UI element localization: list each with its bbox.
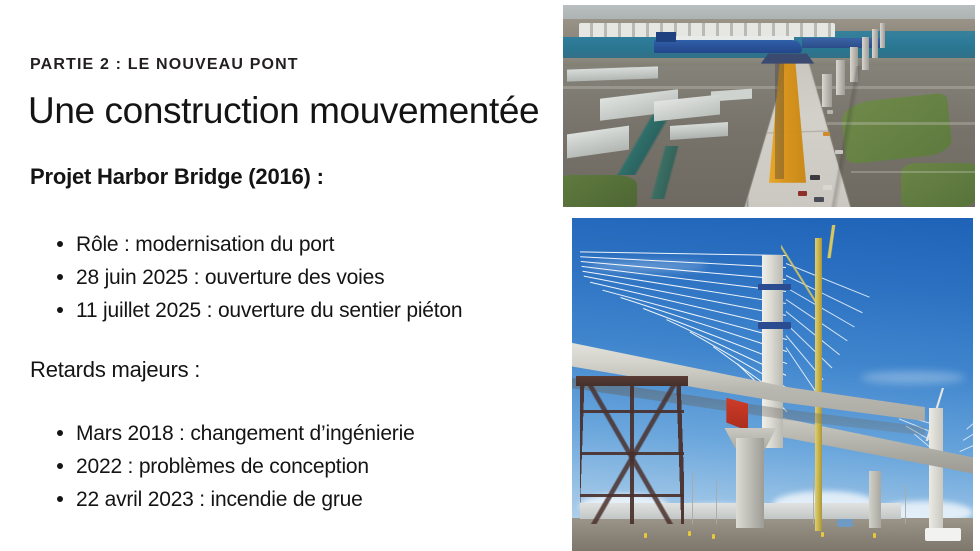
photo-vehicle (814, 197, 824, 202)
list-item-label: Rôle : modernisation du port (76, 233, 334, 256)
photo-crane-jib (788, 223, 877, 259)
cable-stayed-bridge-photo (572, 218, 973, 551)
photo-pylon-far (929, 408, 943, 528)
photo-ship-superstructure (656, 32, 677, 42)
photo-traffic-cone (712, 534, 715, 539)
bullet-dot-icon (57, 430, 63, 436)
bullet-dot-icon (57, 274, 63, 280)
photo-traffic-cone (644, 533, 647, 538)
page-title: Une construction mouvementée (28, 90, 539, 132)
list-item-label: 22 avril 2023 : incendie de grue (76, 488, 363, 511)
slide-kicker: PARTIE 2 : LE NOUVEAU PONT (30, 56, 299, 74)
list-item-label: 11 juillet 2025 : ouverture du sentier p… (76, 299, 462, 322)
photo-road (563, 86, 975, 89)
photo-pier-far (869, 471, 881, 528)
photo-traffic-cone (821, 532, 824, 537)
photo-gantry-rail (775, 62, 784, 179)
list-item: 28 juin 2025 : ouverture des voies (56, 261, 462, 294)
list-item-label: Mars 2018 : changement d’ingénierie (76, 422, 415, 445)
presentation-slide: PARTIE 2 : LE NOUVEAU PONT Une construct… (0, 0, 980, 551)
photo-white-truck (925, 528, 961, 541)
photo-vehicle (823, 185, 833, 190)
list-item: 22 avril 2023 : incendie de grue (56, 483, 415, 516)
bullet-dot-icon (57, 496, 63, 502)
photo-vehicle (823, 132, 830, 136)
photo-vegetation-lower-right (901, 163, 975, 207)
slide-text-column: PARTIE 2 : LE NOUVEAU PONT Une construct… (0, 0, 560, 551)
bullet-dot-icon (57, 463, 63, 469)
list-item-label: 2022 : problèmes de conception (76, 455, 369, 478)
photo-vehicle (835, 150, 843, 154)
list-item: 11 juillet 2025 : ouverture du sentier p… (56, 294, 462, 327)
photo-tower-crane-mast (815, 238, 823, 531)
list-item-label: 28 juin 2025 : ouverture des voies (76, 266, 384, 289)
section-heading-delays: Retards majeurs : (30, 357, 200, 383)
bullet-dot-icon (57, 241, 63, 247)
bullet-dot-icon (57, 307, 63, 313)
photo-falsework-diagonals (580, 385, 684, 525)
photo-lamppost (716, 481, 717, 524)
photo-lamppost (813, 478, 814, 525)
photo-vehicle (810, 175, 820, 180)
aerial-bridge-construction-photo (563, 5, 975, 207)
photo-pylon-platform (758, 322, 791, 329)
bullet-list-delays: Mars 2018 : changement d’ingénierie 2022… (56, 417, 415, 516)
bullet-list-project: Rôle : modernisation du port 28 juin 202… (56, 228, 462, 327)
photo-vehicle (837, 519, 853, 527)
list-item: Rôle : modernisation du port (56, 228, 462, 261)
photo-traffic-cone (873, 533, 876, 538)
photo-vehicle (827, 110, 834, 114)
photo-canal-lower (612, 146, 727, 199)
list-item: Mars 2018 : changement d’ingénierie (56, 417, 415, 450)
photo-traffic-cone (688, 531, 691, 536)
list-item: 2022 : problèmes de conception (56, 450, 415, 483)
section-heading-project: Projet Harbor Bridge (2016) : (30, 164, 324, 190)
photo-gantry-headframe (761, 53, 815, 63)
photo-lamppost (692, 471, 693, 524)
photo-lamppost (905, 484, 906, 524)
photo-vehicle (798, 191, 807, 196)
photo-main-pier (736, 438, 764, 528)
